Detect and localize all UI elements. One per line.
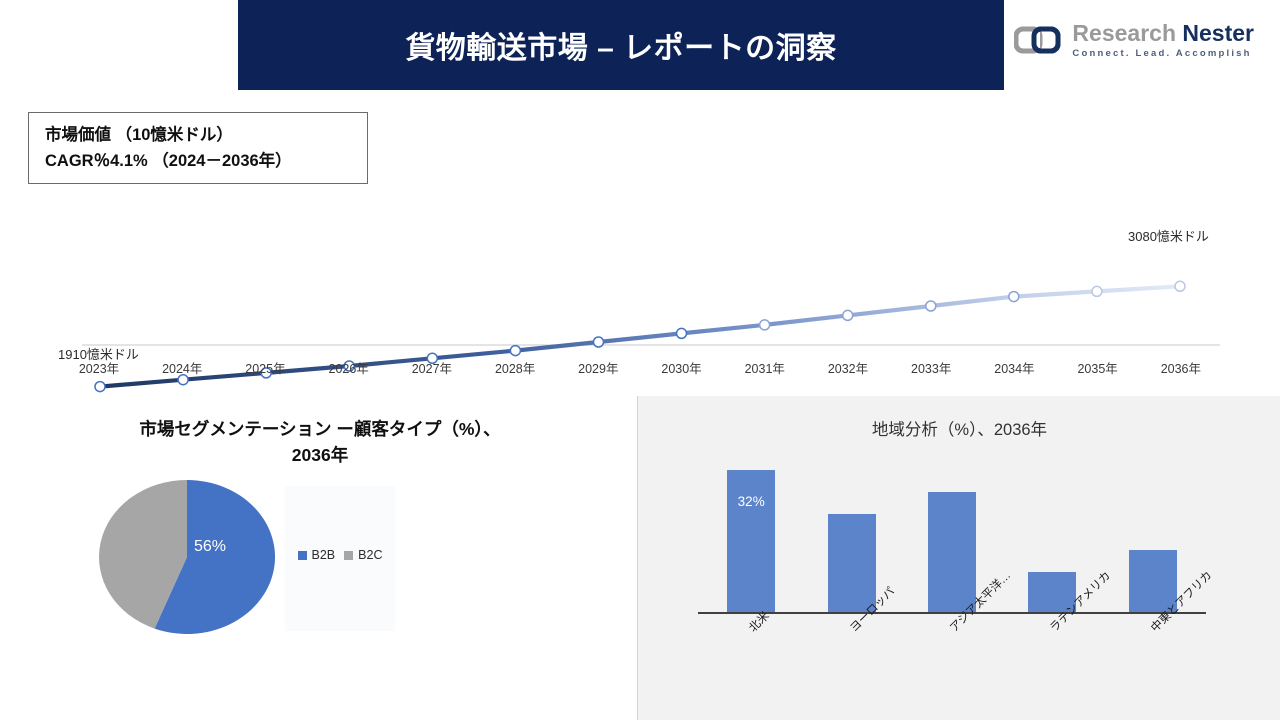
pie-chart: 56%: [97, 478, 277, 636]
bar-data-label: 32%: [727, 494, 775, 509]
bar-column: [727, 470, 775, 612]
data-point-marker: [1009, 292, 1019, 302]
segmentation-panel: 市場セグメンテーション ー顧客タイプ（%）、 2036年 56% B2BB2C …: [0, 396, 637, 720]
data-point-marker: [95, 382, 105, 392]
segmentation-title-line2: 2036年: [292, 445, 348, 465]
year-tick-label: 2024年: [143, 358, 221, 377]
bar-column: [828, 514, 876, 612]
pie-legend-label: B2C: [358, 548, 382, 562]
line-chart-svg: [0, 96, 1280, 396]
data-point-marker: [843, 310, 853, 320]
logo-tagline: Connect. Lead. Accomplish: [1072, 49, 1254, 59]
segmentation-title: 市場セグメンテーション ー顧客タイプ（%）、 2036年: [30, 416, 610, 469]
pie-legend: B2BB2C: [285, 548, 395, 562]
year-tick-label: 2029年: [559, 358, 637, 377]
year-tick-label: 2032年: [809, 358, 887, 377]
logo-name-nester: Nester: [1182, 20, 1254, 46]
bar-chart-plot: 32%: [701, 461, 1203, 612]
market-value-line-chart: 1910憶米ドル 3080憶米ドル: [0, 96, 1280, 396]
regional-analysis-title: 地域分析（%）、2036年: [638, 416, 1280, 440]
legend-swatch-icon: [298, 551, 307, 560]
year-tick-label: 2033年: [892, 358, 970, 377]
pie-chart-svg: [97, 478, 277, 636]
header-banner: 貨物輸送市場 – レポートの洞察: [238, 0, 1004, 90]
pie-legend-item-b2c: B2C: [344, 548, 382, 562]
pie-legend-label: B2B: [312, 548, 336, 562]
year-tick-label: 2027年: [393, 358, 471, 377]
data-point-marker: [1092, 286, 1102, 296]
brand-logo: Research Nester Connect. Lead. Accomplis…: [1014, 22, 1254, 59]
legend-swatch-icon: [344, 551, 353, 560]
year-tick-label: 2035年: [1059, 358, 1137, 377]
data-point-marker: [510, 346, 520, 356]
year-axis-labels: 2023年2024年2025年2026年2027年2028年2029年2030年…: [60, 358, 1220, 377]
year-tick-label: 2028年: [476, 358, 554, 377]
page-title: 貨物輸送市場 – レポートの洞察: [405, 23, 836, 67]
pie-legend-item-b2b: B2B: [298, 548, 336, 562]
pie-legend-panel: B2BB2C: [285, 486, 395, 631]
year-tick-label: 2023年: [60, 358, 138, 377]
year-tick-label: 2031年: [726, 358, 804, 377]
logo-name-research: Research: [1072, 20, 1182, 46]
segmentation-title-line1: 市場セグメンテーション ー顧客タイプ（%）、: [139, 419, 500, 439]
year-tick-label: 2034年: [975, 358, 1053, 377]
data-point-marker: [677, 328, 687, 338]
year-tick-label: 2026年: [310, 358, 388, 377]
data-point-marker: [1175, 281, 1185, 291]
interlocking-links-icon: [1014, 23, 1062, 57]
regional-analysis-panel: 地域分析（%）、2036年 32% 北米ヨーロッパアジア太平洋…ラテンアメリカ中…: [637, 396, 1280, 720]
year-tick-label: 2036年: [1142, 358, 1220, 377]
data-point-marker: [594, 337, 604, 347]
bar-chart-baseline: [698, 612, 1206, 614]
end-value-label: 3080憶米ドル: [1128, 226, 1209, 245]
data-point-marker: [926, 301, 936, 311]
pie-slices: [99, 480, 275, 634]
pie-data-label: 56%: [175, 538, 245, 556]
year-tick-label: 2030年: [643, 358, 721, 377]
infographic-page: 貨物輸送市場 – レポートの洞察 Research Nester Connect…: [0, 0, 1280, 720]
data-point-marker: [760, 320, 770, 330]
year-tick-label: 2025年: [226, 358, 304, 377]
logo-text: Research Nester Connect. Lead. Accomplis…: [1072, 22, 1254, 59]
bar-column: [928, 492, 976, 612]
logo-name: Research Nester: [1072, 22, 1254, 45]
